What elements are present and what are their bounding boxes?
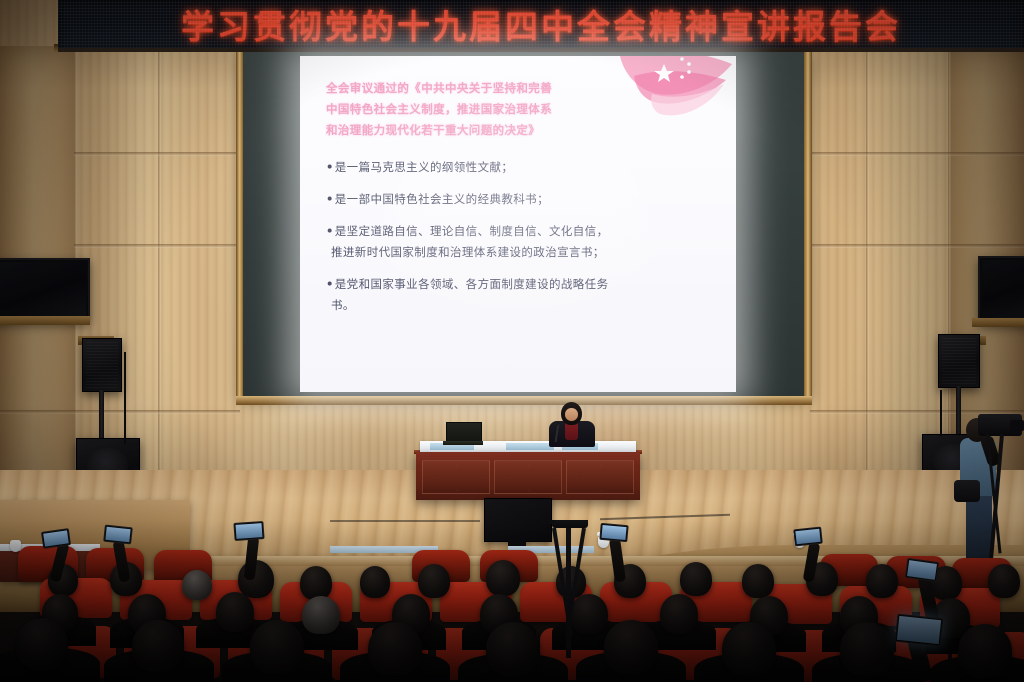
audience-head [570,594,608,634]
speaker-grille [942,338,976,384]
audience-head [604,620,658,674]
audience-head [988,564,1020,598]
audience-phone[interactable] [905,558,939,582]
audience-head [486,622,540,676]
audience-head [368,622,422,676]
raised-arm [609,537,626,582]
bullet-marker-icon: • [326,224,334,238]
audience-head [302,596,340,634]
phone-screen [236,523,263,539]
pa-speaker-left [82,338,122,392]
speaker-cable-right [940,390,942,436]
seated-speaker-face [565,408,578,421]
audience-phone[interactable] [103,525,133,545]
speaker-stand-right [956,386,961,436]
tv-screen [982,260,1024,318]
wall-mounted-tv-left [0,258,90,322]
audience-head [216,592,254,632]
bullet-text: 是党和国家事业各领域、各方面制度建设的战略任务 [335,277,609,291]
bullet-marker-icon: • [326,160,334,174]
presidium-table [416,452,640,500]
phone-screen [43,530,69,546]
slide-bullet: •是坚定道路自信、理论自信、制度自信、文化自信， 推进新时代国家制度和治理体系建… [326,221,722,263]
bullet-text-continued: 推进新时代国家制度和治理体系建设的政治宣言书； [331,242,722,263]
microphone-head [554,421,559,426]
audience-head [16,618,68,670]
audience-head [680,562,712,596]
audience-head [418,564,450,598]
pa-speaker-right [938,334,980,388]
bullet-text: 是一部中国特色社会主义的经典教科书； [335,192,549,206]
camera-lens [1010,420,1024,431]
screen-trim-left [236,52,243,398]
slide-title-line: 中国特色社会主义制度，推进国家治理体系 [326,99,722,120]
phone-screen [795,529,820,544]
bullet-marker-icon: • [326,277,334,291]
tv-screen [0,262,86,316]
audience-head [486,560,520,596]
slide-title-line: 全会审议通过的《中共中央关于坚持和完善 [326,78,722,99]
audience-tripod-leg [566,528,571,658]
slide-bullet: •是一部中国特色社会主义的经典教科书； [326,189,722,210]
bullet-marker-icon: • [326,192,334,206]
audience-head [660,594,698,634]
speaker-grille [86,342,118,388]
audience-head [958,624,1012,678]
tv-shelf-right [972,318,1024,327]
bullet-text-continued: 书。 [331,295,722,316]
slide-title: 全会审议通过的《中共中央关于坚持和完善 中国特色社会主义制度，推进国家治理体系 … [326,78,722,141]
audience-head [300,566,332,600]
table-panel [494,460,562,494]
phone-screen [897,616,941,644]
conference-hall-photo: 学习贯彻党的十九届四中全会精神宣讲报告会 全会审议通过的《中共中央关于坚持和完善… [0,0,1024,682]
audience-camera-lens [542,520,556,524]
camera-bag [954,480,980,502]
audience-phone-foreground[interactable] [895,614,944,647]
led-banner-text: 学习贯彻党的十九届四中全会精神宣讲报告会 [58,0,1024,48]
bullet-text: 是坚定道路自信、理论自信、制度自信、文化自信， [335,224,609,238]
slide-bullet-list: •是一篇马克思主义的纲领性文献； •是一部中国特色社会主义的经典教科书； •是坚… [326,157,722,316]
audience-head [866,564,898,598]
audience-area [0,520,1024,682]
audience-phone[interactable] [233,521,264,541]
projected-slide: 全会审议通过的《中共中央关于坚持和完善 中国特色社会主义制度，推进国家治理体系 … [300,56,736,392]
audience-head [742,564,774,598]
speaker-stand-left [99,390,104,442]
table-panel [566,460,634,494]
phone-screen [105,527,130,542]
tablecloth-blue-band [506,443,554,450]
audience-head [182,570,212,600]
table-panel [422,460,490,494]
audience-phone[interactable] [793,527,823,547]
phone-screen [907,560,937,580]
phone-screen [601,525,626,540]
slide-bullet: •是一篇马克思主义的纲领性文献； [326,157,722,178]
led-banner: 学习贯彻党的十九届四中全会精神宣讲报告会 [58,0,1024,52]
screen-trim-bottom [236,396,812,405]
audience-head [840,622,894,676]
slide-title-line: 和治理能力现代化若干重大问题的决定》 [326,120,722,141]
audience-head [360,566,390,598]
slide-bullet: •是党和国家事业各领域、各方面制度建设的战略任务 书。 [326,274,722,316]
screen-trim-right [804,52,812,398]
speaker-cable-left [124,352,126,444]
audience-phone[interactable] [599,523,628,542]
audience-head [132,620,184,672]
wall-mounted-tv-right [978,256,1024,324]
audience-head [250,620,304,674]
tv-shelf-left [0,316,90,325]
laptop-base [443,441,483,445]
bullet-text: 是一篇马克思主义的纲领性文献； [335,160,514,174]
audience-head [722,622,776,676]
